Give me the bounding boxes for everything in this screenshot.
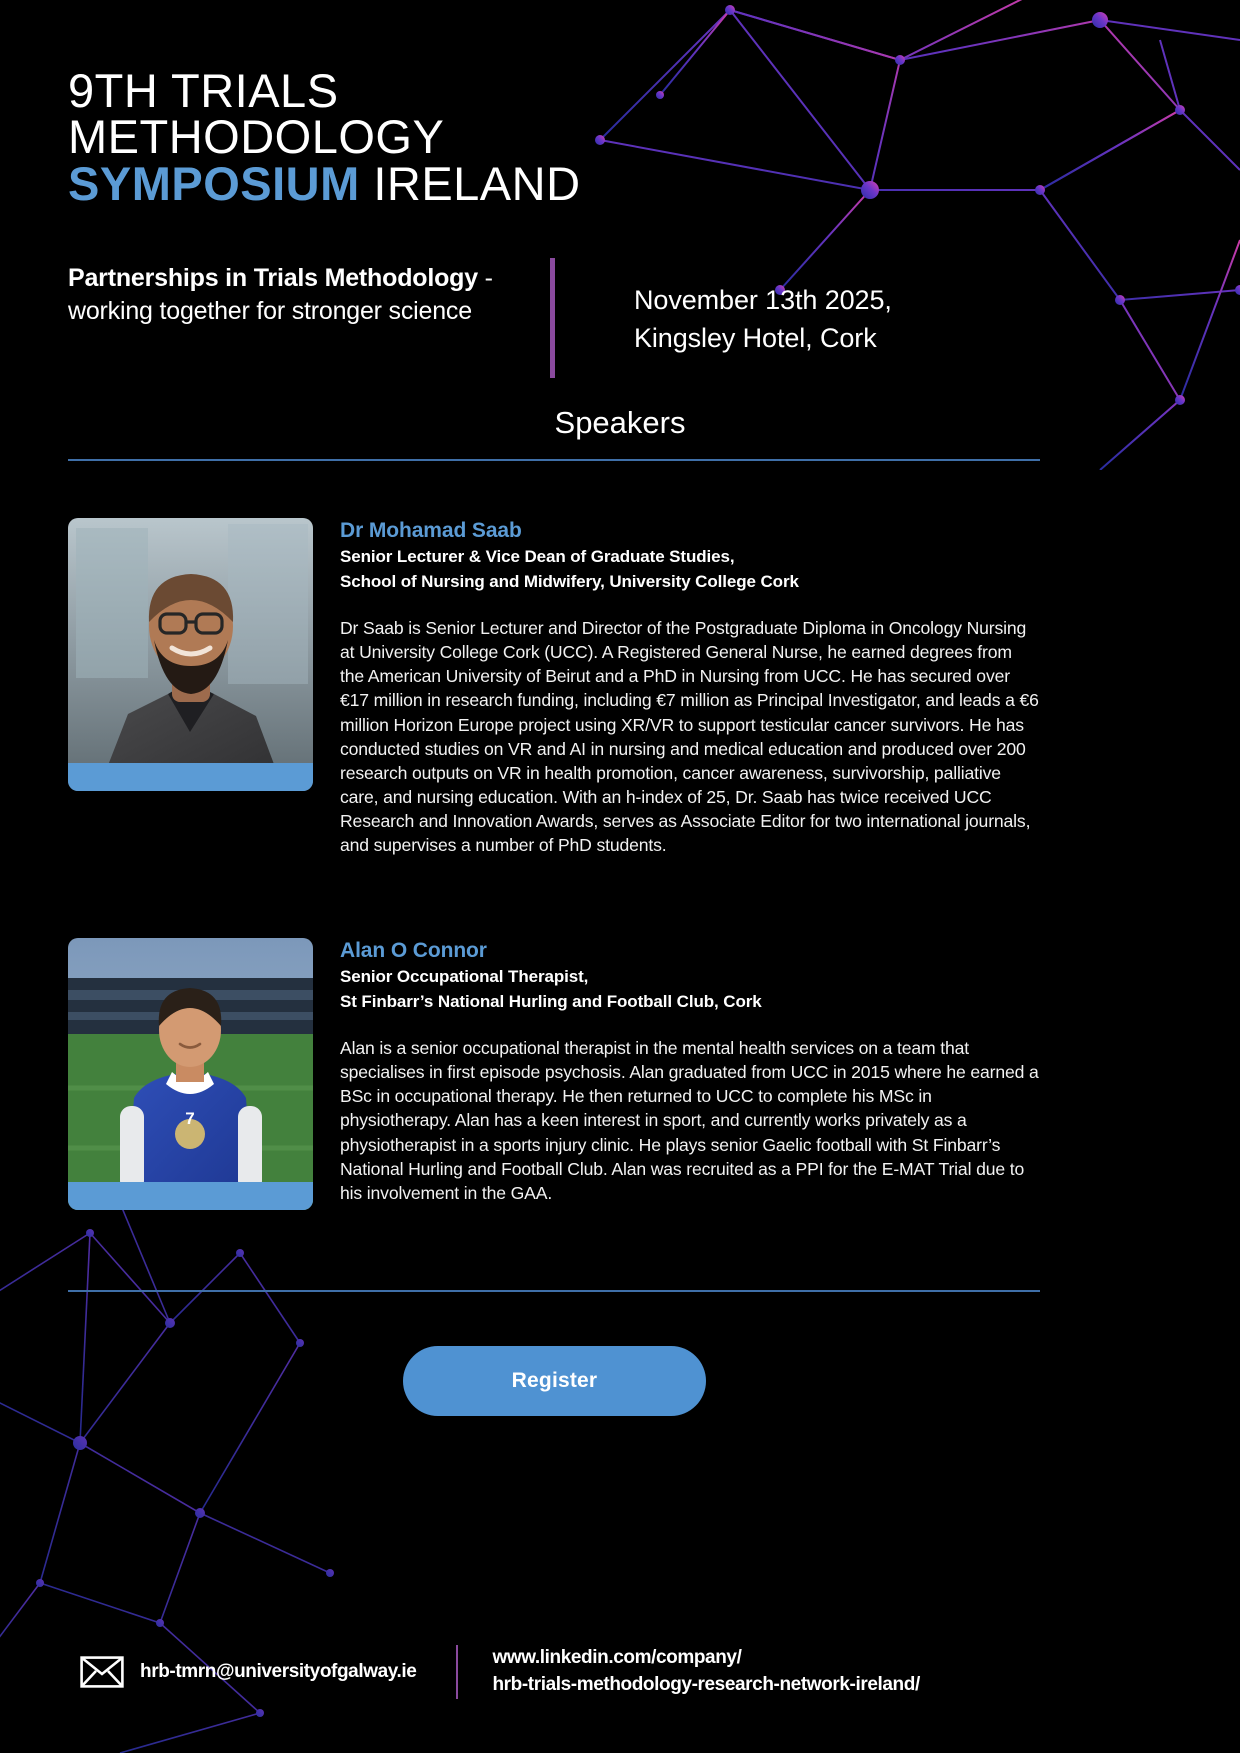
title-accent-word: SYMPOSIUM [68, 157, 360, 210]
speaker-name: Dr Mohamad Saab [340, 518, 1040, 544]
poster-canvas: 9TH TRIALS METHODOLOGY SYMPOSIUM IRELAND… [0, 0, 1240, 1753]
divider-bottom [68, 1290, 1040, 1292]
speaker-details: Dr Mohamad Saab Senior Lecturer & Vice D… [340, 518, 1040, 857]
subtitle-bold: Partnerships in Trials Methodology [68, 264, 478, 292]
register-button[interactable]: Register [403, 1346, 706, 1416]
title-tail-word: IRELAND [360, 157, 581, 210]
event-datetime: November 13th 2025, Kingsley Hotel, Cork [634, 282, 892, 358]
avatar-accent-bar [68, 763, 313, 791]
linkedin-url[interactable]: www.linkedin.com/company/ hrb-trials-met… [492, 1645, 919, 1699]
linkedin-url-line-2: hrb-trials-methodology-research-network-… [492, 1672, 919, 1699]
event-date: November 13th 2025, [634, 282, 892, 320]
speaker-card: Dr Mohamad Saab Senior Lecturer & Vice D… [68, 518, 1040, 857]
linkedin-url-line-1: www.linkedin.com/company/ [492, 1645, 919, 1672]
portrait-dr-mohamad-saab [68, 518, 313, 791]
event-subtitle: Partnerships in Trials Methodology - wor… [68, 262, 538, 328]
footer: hrb-tmrn@universityofgalway.ie www.linke… [80, 1645, 920, 1699]
speaker-bio: Alan is a senior occupational therapist … [340, 1036, 1040, 1205]
speaker-role-line-2: School of Nursing and Midwifery, Univers… [340, 571, 1040, 594]
avatar [68, 518, 313, 791]
portrait-alan-o-connor: 7 [68, 938, 313, 1210]
event-venue: Kingsley Hotel, Cork [634, 320, 892, 358]
header-vertical-divider [550, 258, 555, 378]
svg-text:7: 7 [185, 1109, 194, 1128]
speaker-role-line-1: Senior Lecturer & Vice Dean of Graduate … [340, 546, 1040, 569]
subtitle-row: Partnerships in Trials Methodology - wor… [68, 262, 538, 328]
avatar-accent-bar [68, 1182, 313, 1210]
speaker-card: 7 Alan O Connor Senior Occupational Ther… [68, 938, 1040, 1205]
title-line-2: METHODOLOGY [68, 114, 581, 160]
contact-email[interactable]: hrb-tmrn@universityofgalway.ie [140, 1661, 416, 1683]
title-line-1: 9TH TRIALS [68, 68, 581, 114]
divider-top [68, 459, 1040, 461]
speaker-details: Alan O Connor Senior Occupational Therap… [340, 938, 1040, 1205]
speakers-heading: Speakers [0, 405, 1240, 441]
envelope-icon [80, 1656, 124, 1688]
page-title: 9TH TRIALS METHODOLOGY SYMPOSIUM IRELAND [68, 68, 581, 207]
title-line-3: SYMPOSIUM IRELAND [68, 161, 581, 207]
network-graphic-top [480, 0, 1240, 470]
speaker-role-line-2: St Finbarr’s National Hurling and Footba… [340, 991, 1040, 1014]
avatar: 7 [68, 938, 313, 1210]
footer-divider [456, 1645, 458, 1699]
speaker-name: Alan O Connor [340, 938, 1040, 964]
speaker-role-line-1: Senior Occupational Therapist, [340, 966, 1040, 989]
speaker-bio: Dr Saab is Senior Lecturer and Director … [340, 616, 1040, 857]
